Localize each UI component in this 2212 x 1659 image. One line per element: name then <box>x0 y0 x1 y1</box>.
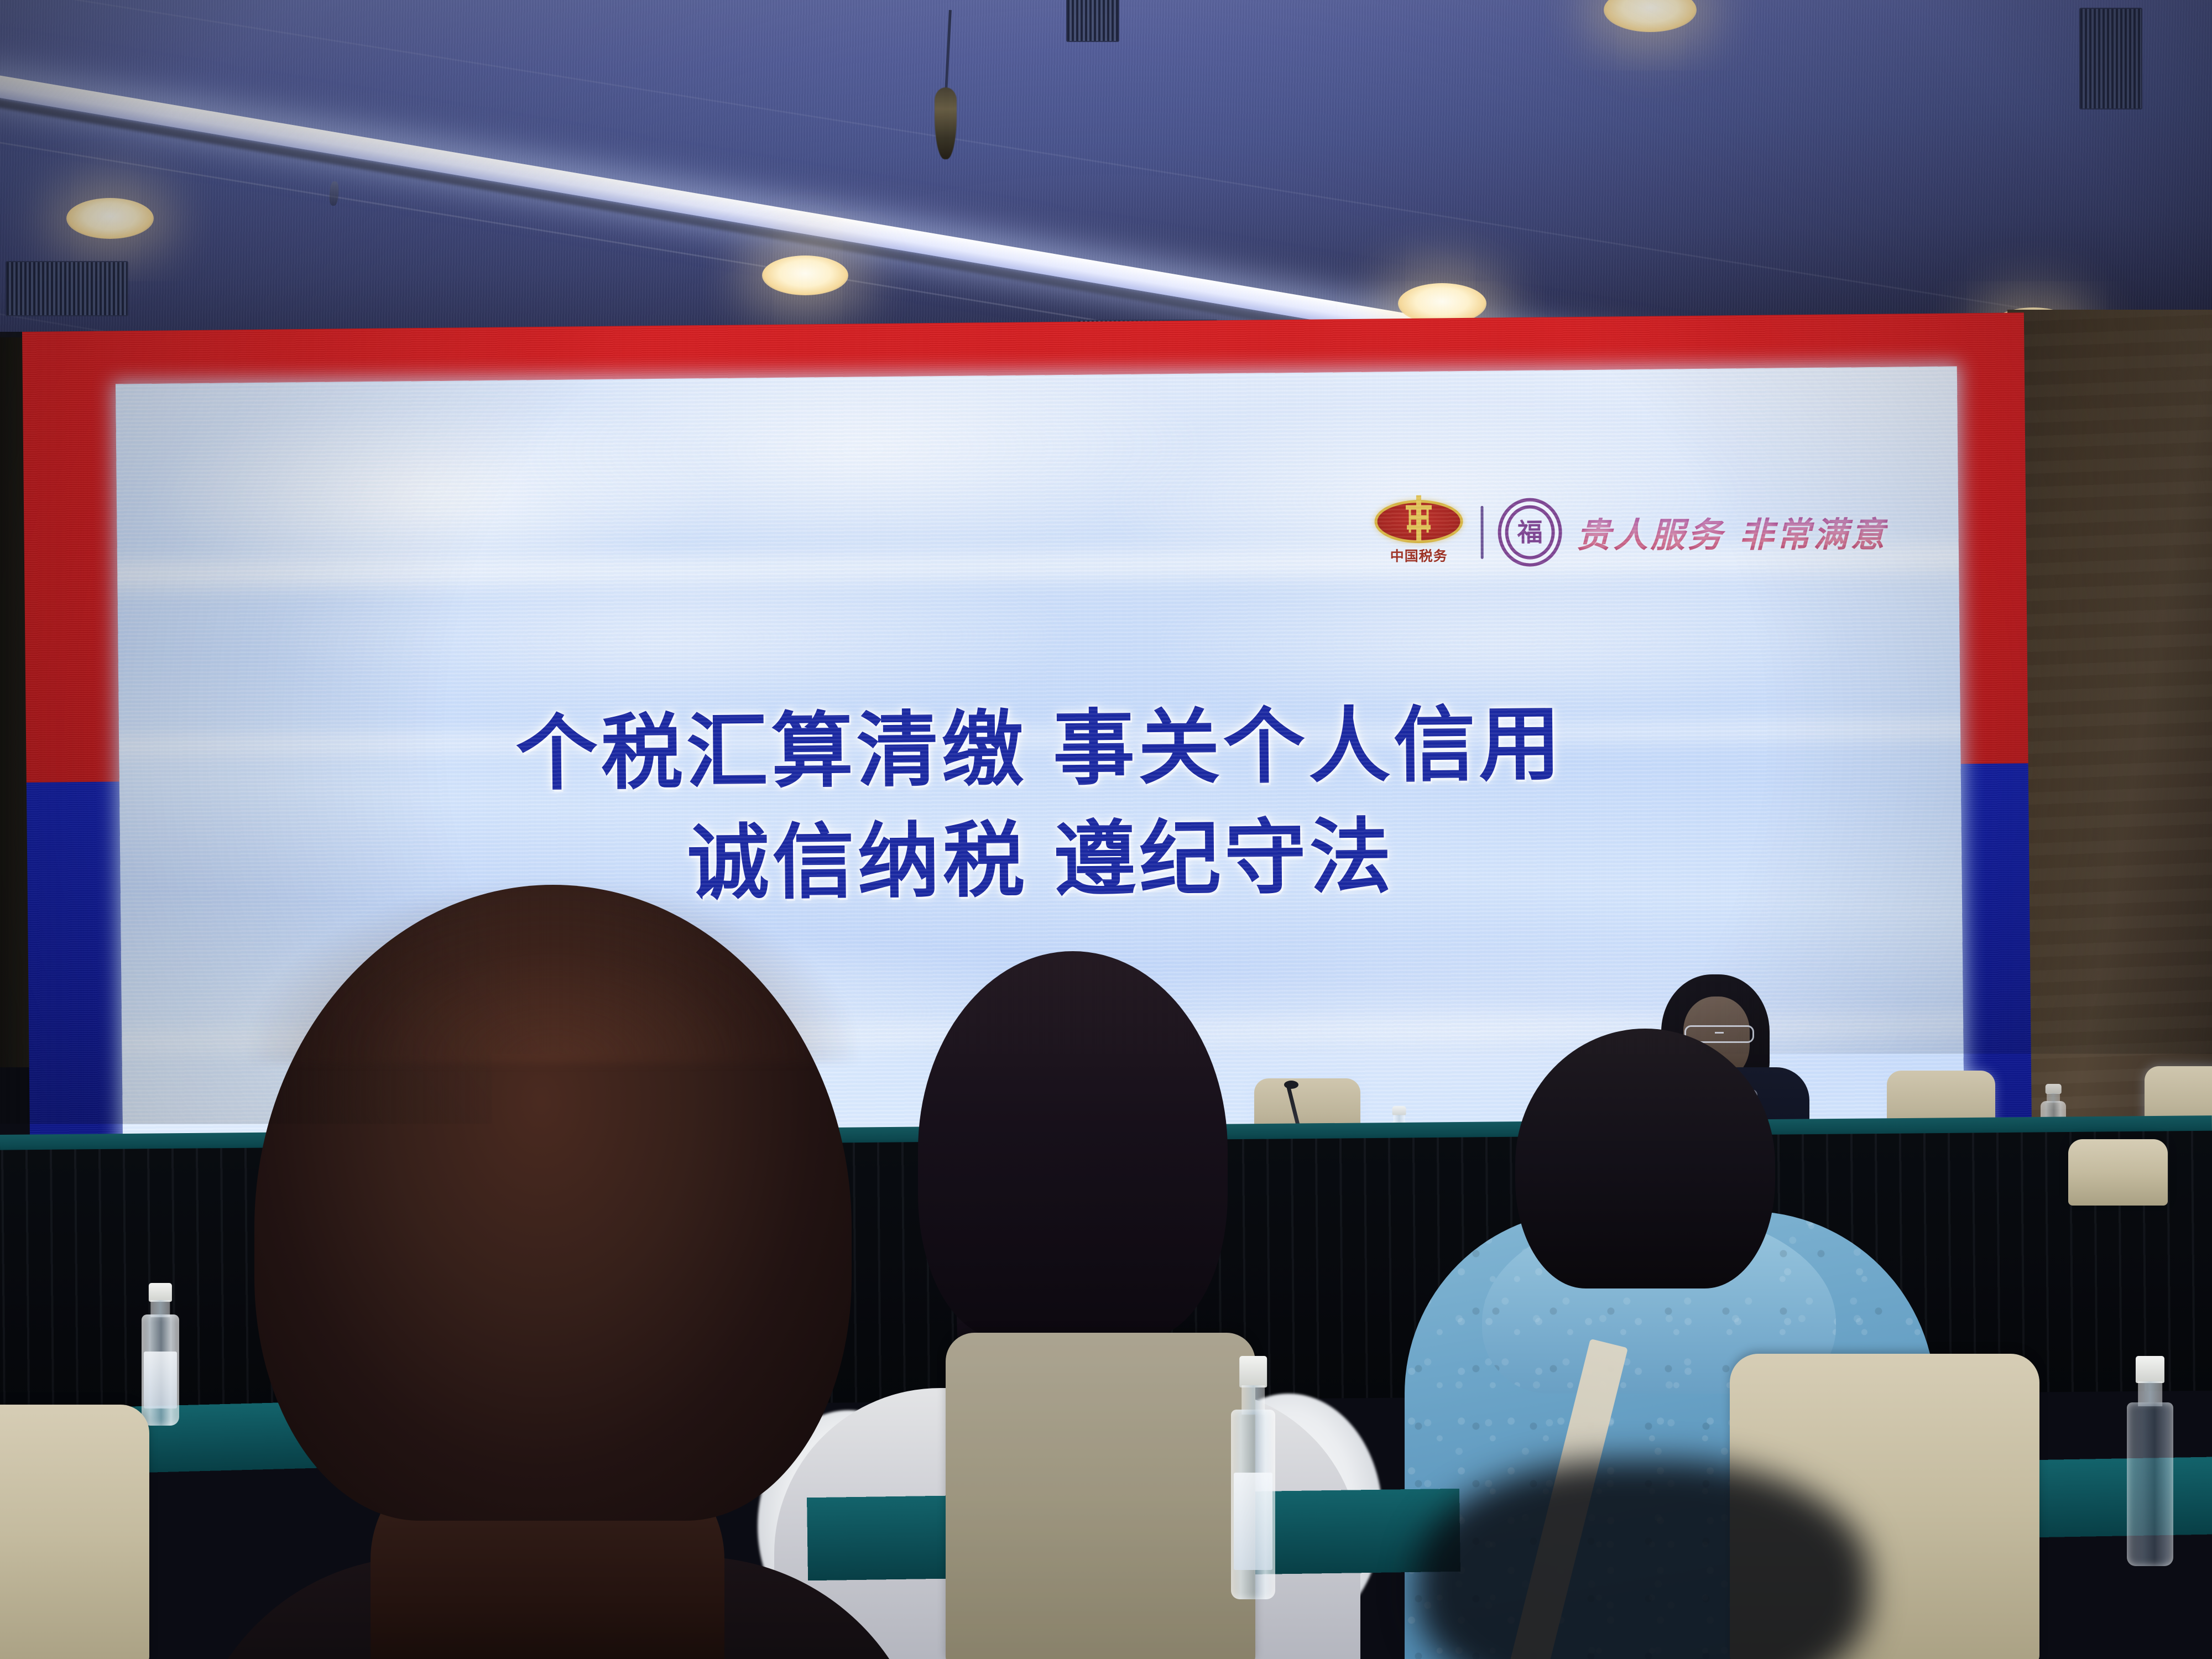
fu-seal-icon: 福 <box>1498 498 1562 566</box>
ceiling-downlight <box>66 198 154 239</box>
audience-chair <box>946 1333 1255 1659</box>
water-bottle <box>142 1283 179 1426</box>
attendee-hair-highlight <box>249 880 857 1063</box>
slide-headline: 个税汇算清缴 事关个人信用 诚信纳税 遵纪守法 <box>119 692 1962 917</box>
logo-divider <box>1481 506 1484 559</box>
foreground-shadow <box>1416 1460 1869 1659</box>
attendee-hair <box>918 951 1228 1338</box>
attendee-hair <box>1515 1029 1775 1288</box>
air-vent <box>6 261 128 316</box>
photo-scene: 中国税务 福 贵人服务 非常满意 个税汇算清缴 事关个人信用 诚信纳税 遵纪守法 <box>0 0 2212 1659</box>
audience-chair <box>2068 1139 2168 1206</box>
slide-headline-line1: 个税汇算清缴 事关个人信用 <box>119 692 1961 807</box>
slide-slogan: 贵人服务 非常满意 <box>1577 507 1888 557</box>
tax-emblem-glyph <box>1402 495 1436 542</box>
side-wall-right <box>2007 310 2212 1150</box>
china-tax-emblem: 中国税务 <box>1371 500 1467 565</box>
water-bottle <box>1231 1356 1275 1599</box>
water-bottle <box>2127 1356 2173 1566</box>
slide-logo-lockup: 中国税务 福 贵人服务 非常满意 <box>1371 497 1888 567</box>
air-vent <box>1066 0 1119 42</box>
ceiling-downlight <box>762 255 848 295</box>
air-vent <box>2079 8 2142 109</box>
fu-seal-character: 福 <box>1517 520 1543 545</box>
tax-emblem-label: 中国税务 <box>1390 545 1448 565</box>
